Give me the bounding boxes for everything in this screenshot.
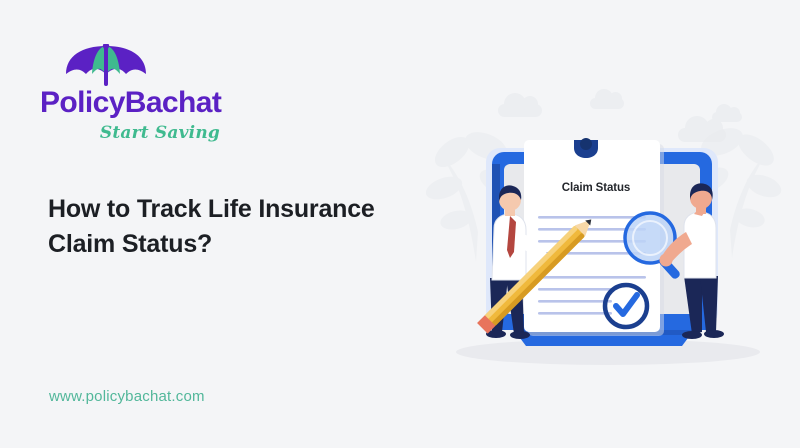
umbrella-icon (62, 44, 270, 90)
website-url[interactable]: www.policybachat.com (49, 388, 205, 405)
slide-canvas: PolicyBachat Start Saving How to Track L… (0, 0, 800, 448)
headline-line-2: Claim Status? (48, 227, 438, 262)
document-title: Claim Status (536, 182, 656, 194)
headline-line-1: How to Track Life Insurance (48, 192, 438, 227)
claim-status-illustration: Claim Status (440, 120, 770, 390)
cloud-icon (498, 104, 542, 117)
page-title: How to Track Life Insurance Claim Status… (48, 192, 438, 261)
cloud-icon (590, 98, 624, 109)
brand-name: PolicyBachat (40, 88, 270, 118)
brand-tagline: Start Saving (40, 123, 220, 143)
brand-logo[interactable]: PolicyBachat Start Saving (40, 44, 270, 143)
